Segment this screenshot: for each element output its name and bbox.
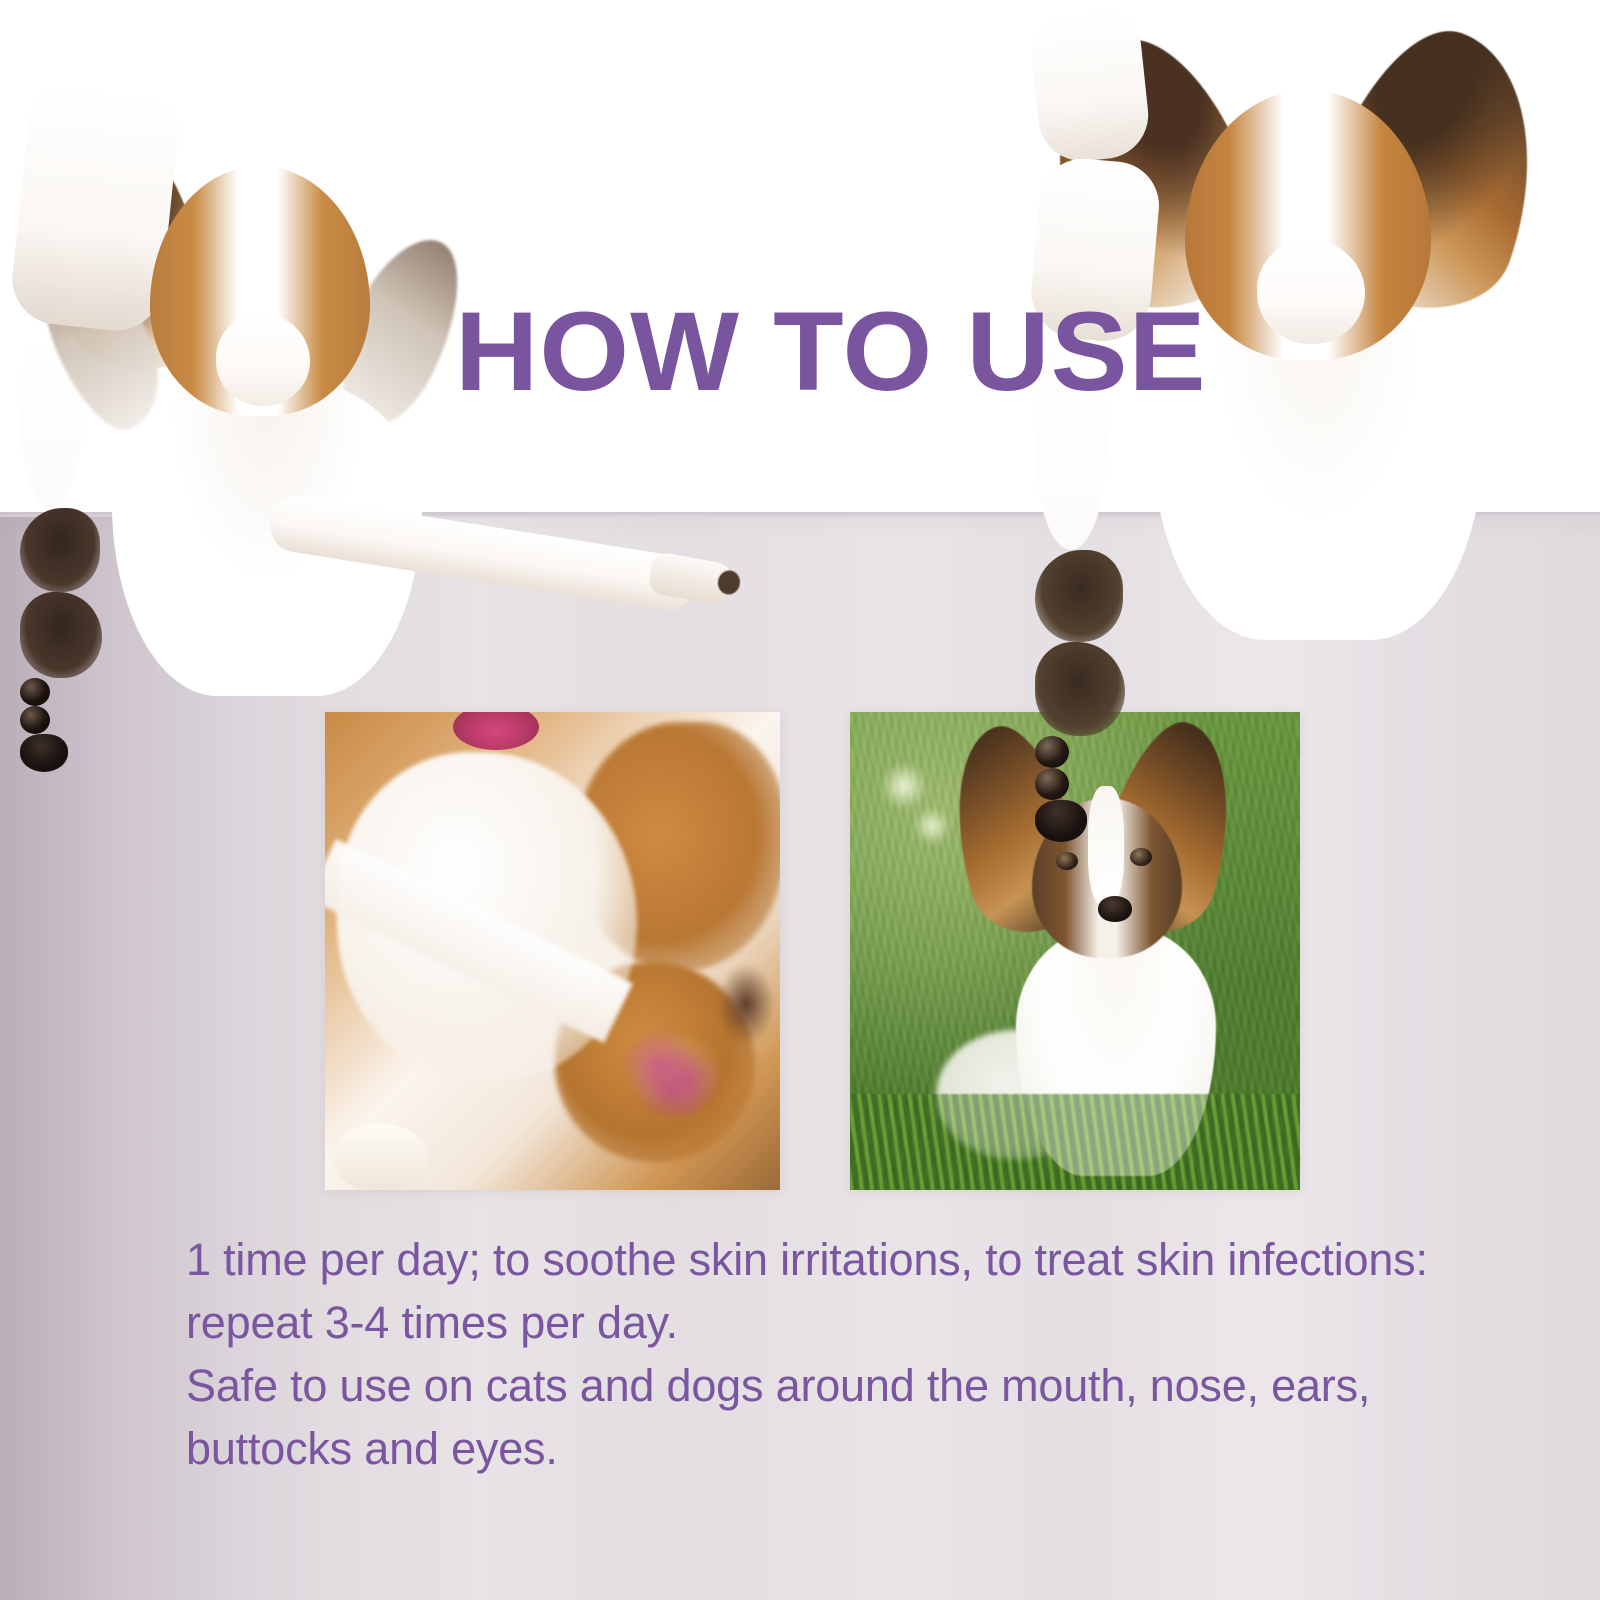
photo-papillon-dog-in-grass (850, 712, 1300, 1190)
dog-left-eye-right (20, 706, 50, 734)
bokeh-highlight-2 (912, 808, 952, 844)
dog-left-nose (20, 734, 68, 772)
grass-dog-eye-left (1056, 852, 1078, 870)
dog-left-eye-mask-left (20, 508, 100, 592)
dog-right-eye-left (1035, 736, 1069, 768)
dog-right-eye-right (1035, 768, 1069, 800)
photo-dog-skin-irritation-closeup (325, 712, 780, 1190)
skin-irritation-patch (625, 1030, 723, 1116)
grass-dog-eye-right (1130, 848, 1152, 866)
dog-right-muzzle (1257, 240, 1365, 344)
dog-paw-bottom (335, 1124, 427, 1190)
grass-dog-nose (1098, 896, 1132, 922)
fur-dark-spot (718, 964, 774, 1044)
dog-left-eye-mask-right (20, 592, 102, 678)
usage-instructions-text: 1 time per day; to soothe skin irritatio… (186, 1228, 1506, 1480)
grass-foreground (850, 1094, 1300, 1190)
dog-tongue (453, 712, 539, 750)
dog-right-eye-mask-left (1035, 550, 1123, 642)
grass-dog-blaze (1088, 786, 1124, 906)
dog-right-nose (1035, 800, 1087, 842)
dog-right-eye-mask-right (1035, 642, 1125, 736)
dog-right-paw-left (1027, 5, 1152, 166)
dog-left-eye-left (20, 678, 50, 706)
papillon-dog-left (20, 88, 500, 708)
bokeh-highlight-1 (878, 764, 930, 808)
page-title: HOW TO USE (455, 296, 1207, 408)
dog-left-muzzle (216, 314, 310, 406)
how-to-use-poster: HOW TO USE 1 time per day; to soothe ski… (0, 0, 1600, 1600)
